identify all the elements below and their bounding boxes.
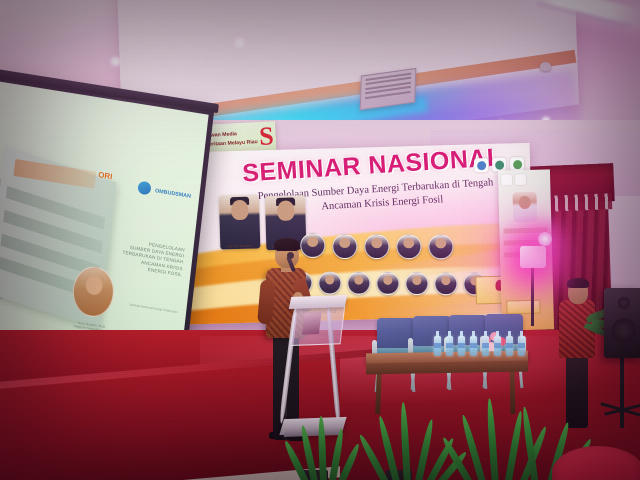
- presentation-slide: ORI OMBUDSMAN PENGELOLAAN SUMBER DAYA EN…: [0, 135, 198, 351]
- pa-tweeter-icon: [618, 297, 630, 309]
- pa-speaker: [604, 288, 640, 358]
- microphone-head-icon: [287, 252, 294, 259]
- led-stage-light: [520, 246, 546, 268]
- rollup-seal-icon: [506, 300, 540, 315]
- podium-front-panel: [291, 304, 346, 346]
- slide-org-logo-label: OMBUDSMAN: [155, 189, 192, 201]
- sponsor-logo-1-icon: [474, 158, 488, 172]
- wall-sign-big-letter: S: [259, 123, 275, 150]
- slide-org-logo-icon: [137, 180, 151, 195]
- downlight-icon: [231, 36, 248, 49]
- pa-woofer-icon: [612, 318, 636, 342]
- podium-panel-graphic: [302, 312, 322, 335]
- foreground-plant: [360, 396, 470, 480]
- smoke-detector-icon: [540, 62, 551, 71]
- banner-featured-portrait: Keynote Speaker 1: [219, 194, 260, 249]
- moderator-hair: [567, 278, 589, 288]
- led-stage-light-secondary: [538, 232, 552, 246]
- rollup-portrait: [512, 192, 537, 223]
- rollup-logos: [501, 174, 526, 186]
- downlight-icon: [108, 56, 123, 67]
- led-light-stand: [531, 266, 534, 326]
- water-bottle-row: [370, 336, 530, 356]
- event-photo-scene: Dermawan Media Pemberitaan Melayu Riau S…: [0, 0, 640, 480]
- podium-lectern-top: [289, 295, 348, 309]
- speaker-stand-pole: [620, 352, 624, 428]
